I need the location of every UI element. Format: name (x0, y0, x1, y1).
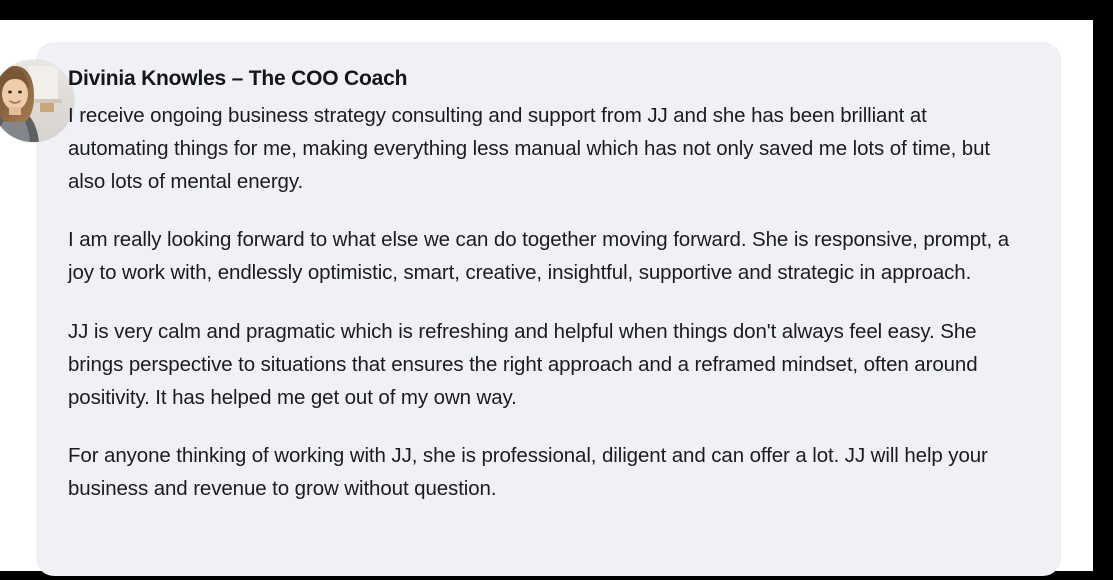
testimonial-paragraph: JJ is very calm and pragmatic which is r… (68, 316, 1018, 414)
testimonial-paragraph: For anyone thinking of working with JJ, … (68, 440, 1018, 506)
testimonial-card: Divinia Knowles – The COO Coach I receiv… (36, 42, 1061, 576)
testimonial-content: Divinia Knowles – The COO Coach I receiv… (68, 64, 1037, 506)
testimonial-author: Divinia Knowles – The COO Coach (68, 64, 1037, 94)
person-photo-avatar-icon (0, 60, 74, 142)
page-canvas: Divinia Knowles – The COO Coach I receiv… (0, 20, 1093, 571)
avatar (0, 60, 74, 142)
testimonial-paragraph: I am really looking forward to what else… (68, 224, 1018, 290)
testimonial-paragraph: I receive ongoing business strategy cons… (68, 100, 1018, 198)
screen-frame: Divinia Knowles – The COO Coach I receiv… (0, 0, 1113, 580)
